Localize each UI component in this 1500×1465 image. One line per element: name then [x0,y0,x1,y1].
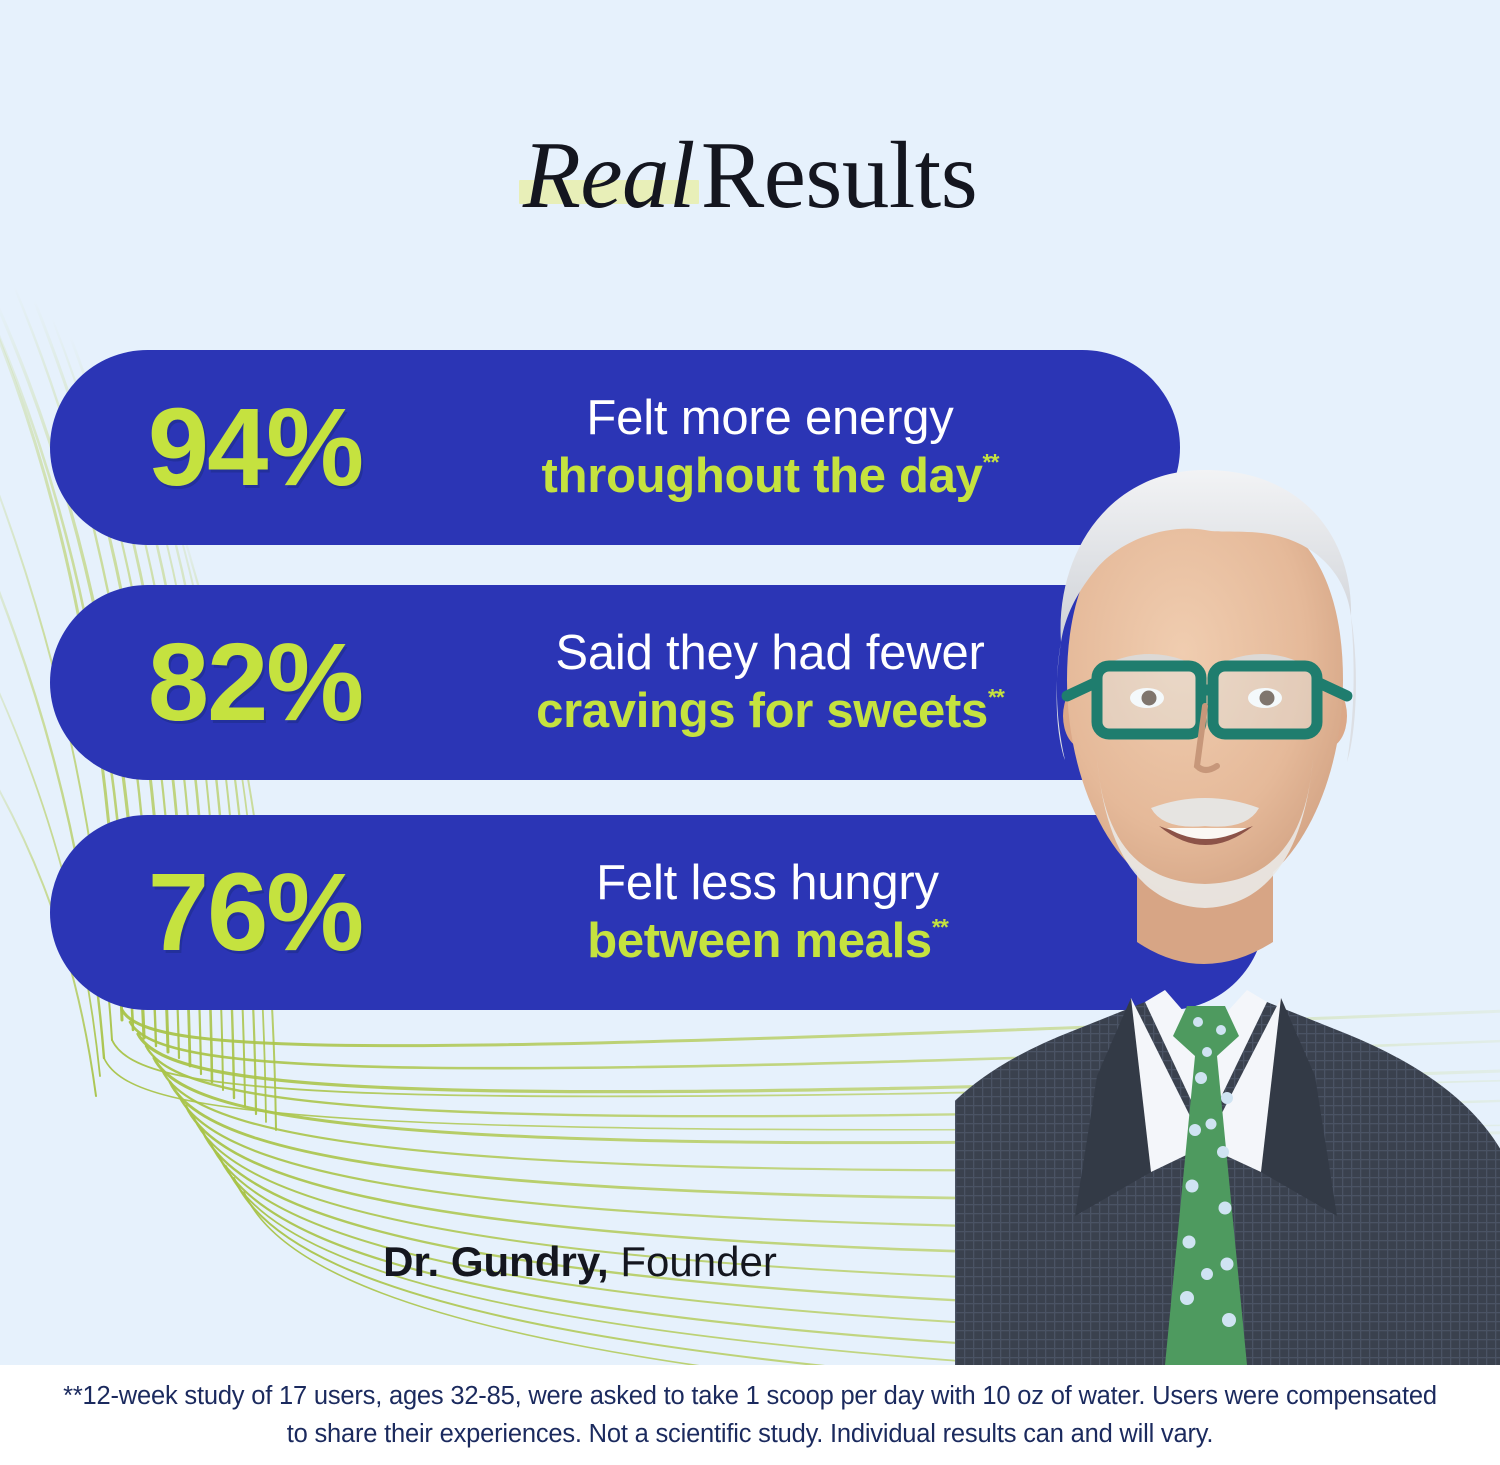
real-results-promo-card: RealResults 94% Felt more energy through… [0,0,1500,1465]
stat-pill-cravings: 82% Said they had fewer cravings for swe… [50,585,1180,780]
title-word-results: Results [701,122,977,228]
footnote-marker: ** [932,914,948,940]
founder-role: Founder [620,1238,776,1285]
stat-line-bottom-text: between meals [587,914,932,968]
founder-name: Dr. Gundry, [383,1238,609,1285]
stat-percent-value: 76% [90,858,420,968]
stat-line-top: Said they had fewer [420,625,1120,683]
title-word-real: Real [523,122,695,228]
stat-description: Felt more energy throughout the day** [420,390,1180,506]
suit-jacket [955,1002,1500,1365]
stat-description: Said they had fewer cravings for sweets*… [420,625,1180,741]
stat-line-bottom-text: cravings for sweets [536,684,988,738]
polka-dot-tie [1165,1006,1247,1365]
stat-percent-value: 82% [90,628,420,738]
founder-credit: Dr. Gundry, Founder [0,1238,1160,1286]
stat-line-bottom: throughout the day** [420,448,1120,506]
stat-line-bottom-text: throughout the day [542,449,983,503]
stat-line-bottom: cravings for sweets** [420,683,1120,741]
dress-shirt [1145,990,1267,1130]
footnote-text: **12-week study of 17 users, ages 32-85,… [50,1377,1450,1454]
stat-line-top: Felt less hungry [420,855,1115,913]
stat-percent-value: 94% [90,393,420,503]
stat-pill-hunger: 76% Felt less hungry between meals** [50,815,1265,1010]
stat-description: Felt less hungry between meals** [420,855,1265,971]
stat-line-top: Felt more energy [420,390,1120,448]
footnote-marker: ** [983,449,999,475]
page-title: RealResults [0,126,1500,226]
title-word-real-wrapper: Real [523,122,701,228]
footnote-bar: **12-week study of 17 users, ages 32-85,… [0,1365,1500,1465]
footnote-marker: ** [988,684,1004,710]
stat-pill-energy: 94% Felt more energy throughout the day*… [50,350,1180,545]
stat-line-bottom: between meals** [420,913,1115,971]
